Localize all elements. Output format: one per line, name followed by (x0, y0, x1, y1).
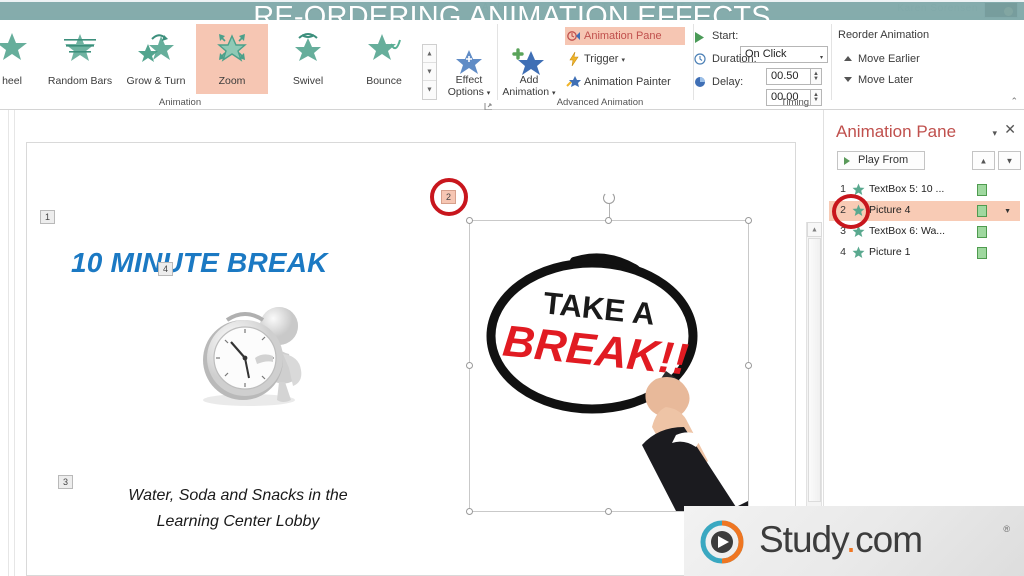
trigger-button[interactable]: Trigger ▾ (565, 50, 645, 68)
timing-group-label: Timing (760, 97, 830, 108)
animation-gallery-zoom[interactable]: Zoom (196, 24, 268, 94)
animation-gallery-grow-turn[interactable]: Grow & Turn (120, 24, 192, 94)
start-label: Start: (712, 27, 738, 45)
clock-clipart[interactable] (187, 298, 327, 408)
animation-gallery-label: Random Bars (44, 75, 116, 87)
animation-item-label: TextBox 6: Wa... (869, 225, 945, 237)
animation-pane-title: Animation Pane (836, 122, 956, 142)
move-earlier-button[interactable]: Move Earlier (842, 51, 920, 67)
annotation-circle-pane-item (832, 194, 870, 229)
add-animation-label-line1: Add (520, 74, 539, 86)
play-triangle-icon (694, 31, 705, 49)
advanced-animation-group-label: Advanced Animation (505, 97, 695, 108)
animation-gallery-swivel[interactable]: Swivel (272, 24, 344, 94)
animation-gallery-label: heel (0, 75, 48, 87)
chevron-down-icon[interactable]: ▼ (1004, 208, 1011, 215)
play-triangle-icon (844, 157, 850, 165)
duration-input[interactable]: 00.50 (766, 68, 811, 85)
animation-tag-1[interactable]: 1 (40, 210, 55, 224)
animation-dialog-launcher-icon[interactable] (484, 98, 493, 107)
play-from-button[interactable]: Play From (837, 151, 925, 170)
animation-item-label: TextBox 5: 10 ... (869, 183, 944, 195)
collapse-ribbon-icon[interactable]: ⌃ (1010, 96, 1018, 107)
duration-label: Duration: (712, 50, 757, 68)
star-grow-turn-icon (136, 30, 176, 67)
reorder-animation-title: Reorder Animation (838, 29, 929, 41)
watermark-text-com: com (855, 519, 922, 560)
animation-gallery-label: Swivel (272, 75, 344, 87)
move-later-button[interactable]: Move Later (842, 72, 913, 88)
animation-gallery-bounce[interactable]: Bounce (348, 24, 420, 94)
chevron-down-icon: ▾ (622, 57, 626, 64)
animation-timeline-bar[interactable] (977, 226, 987, 238)
animation-painter-label: Animation Painter (584, 76, 671, 88)
chevron-down-icon: ▾ (820, 51, 823, 66)
star-swivel-icon (289, 30, 327, 67)
effect-options-label-line1: Effect (456, 74, 483, 86)
selected-picture-frame[interactable]: TAKE A BREAK!! (469, 220, 749, 512)
ribbon: heel Random Bars (0, 20, 1024, 110)
trigger-label: Trigger (584, 53, 618, 65)
animation-order-number: 4 (836, 246, 846, 258)
star-wheel-icon (0, 30, 29, 67)
watermark-text-dot: . (846, 519, 855, 560)
move-later-pane-button[interactable]: ▼ (998, 151, 1021, 170)
close-icon[interactable]: ✕ (1004, 122, 1016, 136)
scroll-up-button[interactable]: ▲ (807, 222, 822, 237)
animation-gallery-label: Zoom (196, 75, 268, 87)
star-zoom-icon (213, 30, 251, 67)
duration-spinner[interactable]: ▲▼ (811, 68, 822, 85)
star-bounce-icon (365, 30, 403, 67)
chevron-down-icon: ▾ (487, 90, 491, 97)
animation-tag-4[interactable]: 4 (158, 262, 173, 276)
effect-options-label-line2: Options (448, 86, 484, 98)
triangle-down-icon (844, 77, 852, 82)
svg-text:BREAK!!: BREAK!! (501, 317, 691, 385)
watermark-text-study: Study (759, 519, 846, 560)
animation-timeline-bar[interactable] (977, 184, 987, 196)
slide-title[interactable]: 10 MINUTE BREAK (71, 247, 491, 279)
animation-pane-icon (567, 29, 582, 49)
slide-subtitle[interactable]: Water, Soda and Snacks in the Learning C… (73, 483, 403, 535)
animation-gallery-random-bars[interactable]: Random Bars (44, 24, 116, 94)
animation-gallery-label: Grow & Turn (120, 75, 192, 87)
study-com-watermark: Study.com ® (684, 506, 1024, 576)
animation-order-number: 1 (836, 183, 846, 195)
star-icon (852, 246, 865, 264)
scrollbar-thumb[interactable] (808, 238, 821, 502)
rotate-handle[interactable] (603, 192, 615, 204)
animation-pane-label: Animation Pane (584, 30, 662, 42)
pane-menu-icon[interactable]: ▾ (992, 128, 997, 139)
gallery-scroll-up-button[interactable]: ▲ (423, 45, 436, 63)
play-from-label: Play From (858, 154, 908, 166)
animation-gallery-label: Bounce (348, 75, 420, 87)
animation-gallery-wheel[interactable]: heel (0, 24, 48, 94)
watermark-text: Study.com (759, 519, 922, 561)
slide-subtitle-line1: Water, Soda and Snacks in the (128, 487, 347, 504)
animation-item-label: Picture 4 (869, 204, 910, 216)
move-later-label: Move Later (858, 74, 913, 86)
slide-canvas[interactable]: 10 MINUTE BREAK (26, 142, 796, 576)
delay-label: Delay: (712, 73, 743, 91)
slide-subtitle-line2: Learning Center Lobby (157, 513, 320, 530)
clock-icon (694, 53, 706, 71)
star-random-bars-icon (60, 30, 100, 67)
animation-painter-icon (566, 75, 582, 95)
move-earlier-pane-button[interactable]: ▲ (972, 151, 995, 170)
delay-clock-icon (694, 76, 706, 94)
annotation-circle-slide-tag (430, 178, 468, 216)
chevron-down-icon: ▾ (552, 90, 556, 97)
animation-tag-3[interactable]: 3 (58, 475, 73, 489)
registered-mark: ® (1003, 524, 1010, 534)
animation-group-label: Animation (110, 97, 250, 108)
list-item[interactable]: 4 Picture 1 (829, 243, 1020, 263)
animation-timeline-bar[interactable] (977, 247, 987, 259)
animation-item-label: Picture 1 (869, 246, 910, 258)
lightning-bolt-icon (569, 52, 579, 72)
play-button-logo-icon (700, 520, 744, 564)
animation-timeline-bar[interactable] (977, 205, 987, 217)
triangle-up-icon (844, 56, 852, 61)
animation-painter-button[interactable]: Animation Painter (565, 73, 689, 91)
move-earlier-label: Move Earlier (858, 53, 920, 65)
animation-pane-button[interactable]: Animation Pane (565, 27, 685, 45)
take-a-break-picture: TAKE A BREAK!! (470, 221, 748, 511)
